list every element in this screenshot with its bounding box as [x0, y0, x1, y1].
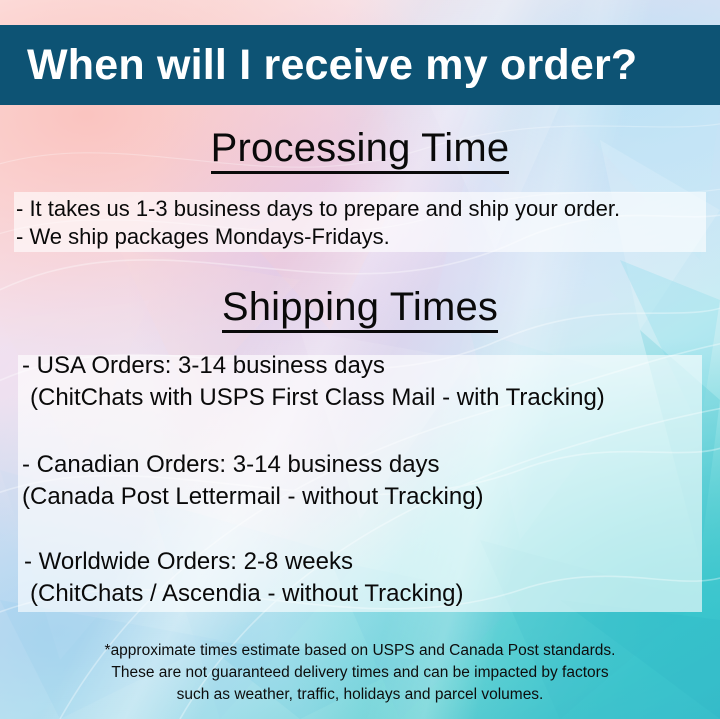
footnote-line-3: such as weather, traffic, holidays and p… [0, 684, 720, 706]
worldwide-orders-detail: (ChitChats / Ascendia - without Tracking… [30, 581, 464, 606]
canadian-orders-detail: (Canada Post Lettermail - without Tracki… [22, 484, 484, 509]
section-heading-shipping-label: Shipping Times [222, 285, 498, 333]
page-title: When will I receive my order? [27, 44, 637, 87]
footnote-disclaimer: *approximate times estimate based on USP… [0, 640, 720, 706]
poster-content: Processing Time - It takes us 1-3 busine… [0, 0, 720, 719]
section-heading-processing: Processing Time [0, 126, 720, 171]
worldwide-orders-title: - Worldwide Orders: 2-8 weeks [24, 549, 353, 574]
processing-line-2: - We ship packages Mondays-Fridays. [16, 225, 390, 248]
processing-line-1: - It takes us 1-3 business days to prepa… [16, 197, 620, 220]
usa-orders-title: - USA Orders: 3-14 business days [22, 353, 385, 378]
footnote-line-1: *approximate times estimate based on USP… [0, 640, 720, 662]
footnote-line-2: These are not guaranteed delivery times … [0, 662, 720, 684]
canadian-orders-title: - Canadian Orders: 3-14 business days [22, 452, 440, 477]
usa-orders-detail: (ChitChats with USPS First Class Mail - … [30, 385, 605, 410]
section-heading-processing-label: Processing Time [211, 126, 510, 174]
header-banner: When will I receive my order? [0, 25, 720, 105]
section-heading-shipping: Shipping Times [0, 285, 720, 330]
shipping-info-poster: When will I receive my order? Processing… [0, 0, 720, 719]
